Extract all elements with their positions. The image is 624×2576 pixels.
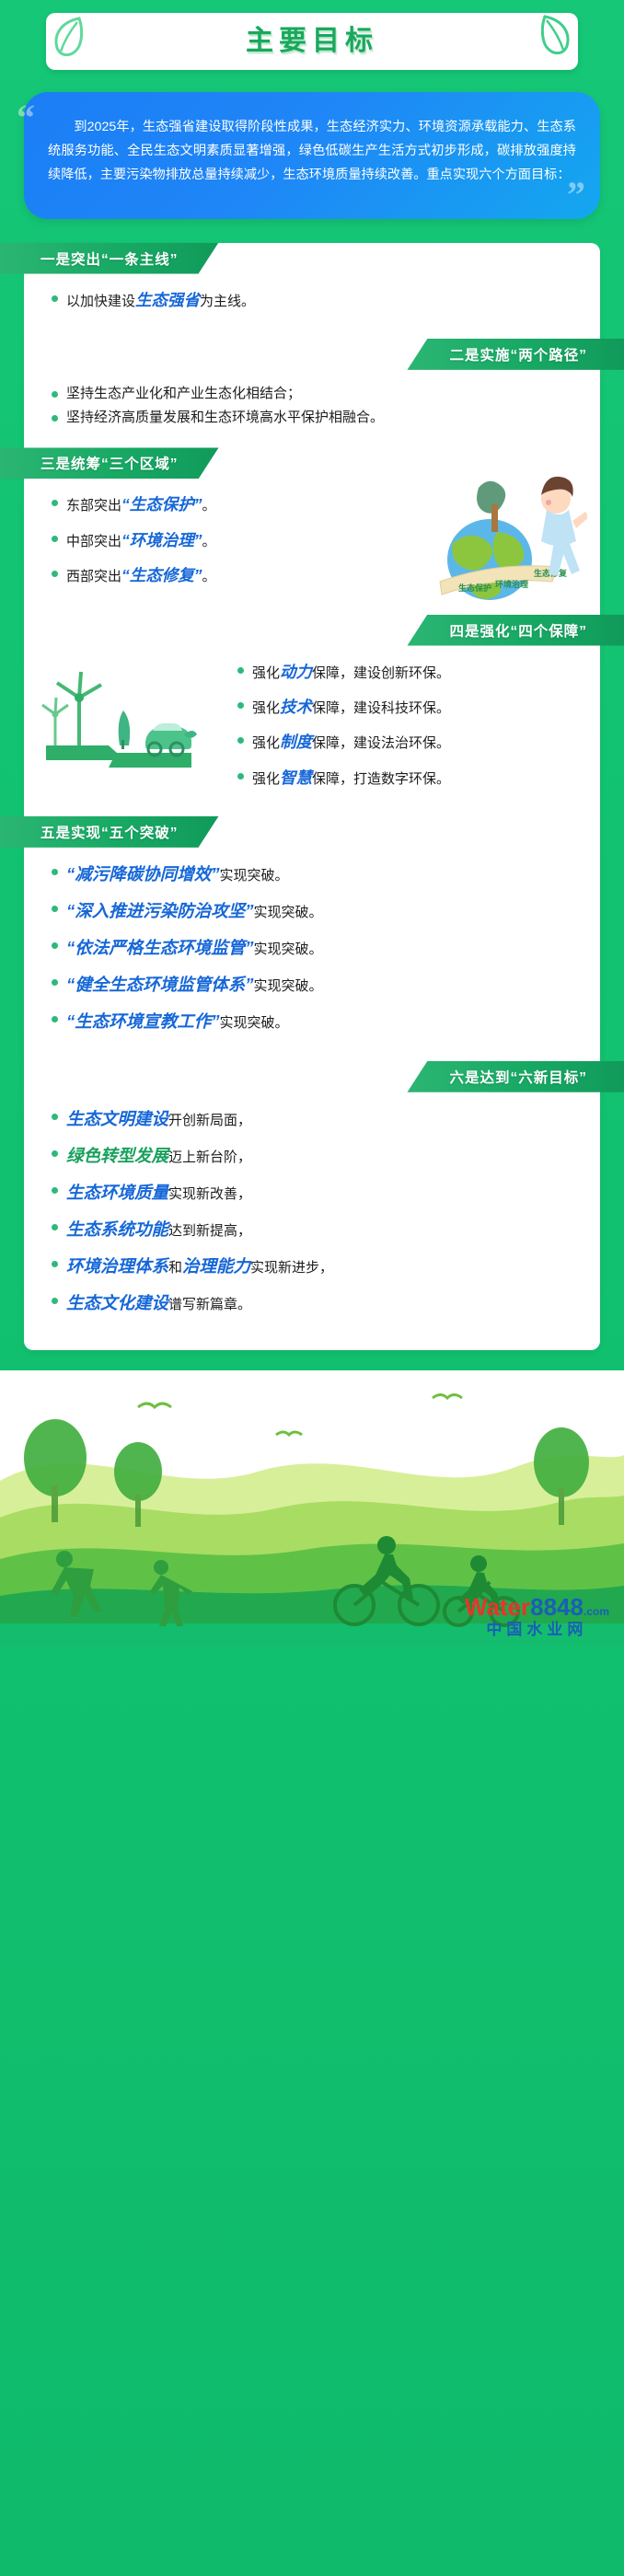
bullet-dot-icon <box>52 1150 58 1157</box>
section-4-heading: 四是强化“四个保障” <box>449 620 587 641</box>
text-fragment: 实现突破。 <box>220 1015 289 1031</box>
list-item-text: “健全生态环境监管体系”实现突破。 <box>66 971 572 999</box>
text-fragment: 强化 <box>252 665 280 681</box>
section-5-ribbon: 五是实现“五个突破” <box>24 816 600 848</box>
list-item: 强化制度保障，建设法治环保。 <box>237 729 580 755</box>
text-fragment: 。 <box>202 498 216 514</box>
section-4-ribbon: 四是强化“四个保障” <box>24 615 600 646</box>
list-item: 绿色转型发展迈上新台阶， <box>52 1142 572 1170</box>
highlight-fragment: “减污降碳协同增效” <box>66 864 220 884</box>
section-3-bullet-list: 东部突出“生态保护”。中部突出“环境治理”。西部突出“生态修复”。 <box>24 479 600 605</box>
list-item: 生态文明建设开创新局面， <box>52 1105 572 1133</box>
text-fragment: 保障，建设法治环保。 <box>312 735 450 751</box>
text-fragment: 实现突破。 <box>254 941 323 957</box>
section-5: 五是实现“五个突破”“减污降碳协同增效”实现突破。“深入推进污染防治攻坚”实现突… <box>24 816 600 1052</box>
highlight-fragment: 生态强省 <box>135 291 200 309</box>
section-1-heading: 一是突出“一条主线” <box>40 248 179 269</box>
bullet-dot-icon <box>237 667 244 674</box>
text-fragment: 保障，打造数字环保。 <box>312 771 450 787</box>
list-item: “健全生态环境监管体系”实现突破。 <box>52 971 572 999</box>
infographic-poster: 主要目标 “ 到2025年，生态强省建设取得阶段性成果，生态经济实力、环境资源承… <box>0 0 624 2576</box>
text-fragment: 保障，建设科技环保。 <box>312 700 450 716</box>
list-item-text: 坚持经济高质量发展和生态环境高水平保护相融合。 <box>66 407 572 429</box>
list-item-text: 绿色转型发展迈上新台阶， <box>66 1142 572 1170</box>
section-3-ribbon-bar: 三是统筹“三个区域” <box>0 447 219 479</box>
section-6-ribbon: 六是达到“六新目标” <box>24 1061 600 1092</box>
list-item-text: 中部突出“环境治理”。 <box>66 527 407 553</box>
bullet-dot-icon <box>237 702 244 709</box>
text-fragment: 保障，建设创新环保。 <box>312 665 450 681</box>
text-fragment: 实现突破。 <box>254 905 323 920</box>
section-6-heading: 六是达到“六新目标” <box>449 1067 587 1087</box>
list-item: “减污降碳协同增效”实现突破。 <box>52 861 572 888</box>
list-item-text: 强化制度保障，建设法治环保。 <box>252 729 580 755</box>
highlight-fragment: 动力 <box>280 663 312 681</box>
highlight-fragment: “生态保护” <box>121 495 202 514</box>
text-fragment: 迈上新台阶， <box>168 1149 251 1165</box>
footer-scenery: Water8848.com 中国水业网 <box>0 1370 624 1646</box>
text-fragment: 实现新进步， <box>250 1260 333 1276</box>
text-fragment: 西部突出 <box>66 569 121 584</box>
watermark-w: W <box>465 1593 487 1621</box>
list-item-text: 强化智慧保障，打造数字环保。 <box>252 765 580 791</box>
text-fragment: 谱写新篇章。 <box>168 1297 251 1312</box>
text-fragment: 达到新提高， <box>168 1223 251 1239</box>
list-item: 强化动力保障，建设创新环保。 <box>237 659 580 685</box>
highlight-fragment: 生态文化建设 <box>66 1293 168 1312</box>
bullet-dot-icon <box>52 869 58 875</box>
highlight-fragment: 制度 <box>280 733 312 751</box>
text-fragment: 以加快建设 <box>66 294 135 309</box>
text-fragment: 坚持经济高质量发展和生态环境高水平保护相融合。 <box>66 410 384 425</box>
highlight-fragment: “深入推进污染防治攻坚” <box>66 901 254 920</box>
list-item: 环境治理体系和治理能力实现新进步， <box>52 1253 572 1280</box>
quote-close-icon: ” <box>567 177 585 214</box>
section-1-ribbon: 一是突出“一条主线” <box>24 243 600 274</box>
highlight-fragment: “生态环境宣教工作” <box>66 1011 220 1031</box>
list-item-text: 生态系统功能达到新提高， <box>66 1216 572 1243</box>
highlight-fragment: 生态环境质量 <box>66 1183 168 1202</box>
list-item: “深入推进污染防治攻坚”实现突破。 <box>52 897 572 925</box>
bullet-dot-icon <box>52 979 58 986</box>
highlight-fragment: 治理能力 <box>182 1256 250 1276</box>
section-6: 六是达到“六新目标”生态文明建设开创新局面，绿色转型发展迈上新台阶，生态环境质量… <box>24 1061 600 1334</box>
quote-open-icon: “ <box>17 99 35 136</box>
list-item: 中部突出“环境治理”。 <box>52 527 407 553</box>
list-item: 以加快建设生态强省为主线。 <box>52 287 572 313</box>
section-6-ribbon-bar: 六是达到“六新目标” <box>407 1061 624 1092</box>
section-3-ribbon: 三是统筹“三个区域” <box>24 447 600 479</box>
bullet-dot-icon <box>52 391 58 398</box>
highlight-fragment: “健全生态环境监管体系” <box>66 975 254 994</box>
list-item: 强化技术保障，建设科技环保。 <box>237 694 580 720</box>
bullet-dot-icon <box>52 295 58 302</box>
bullet-dot-icon <box>52 571 58 577</box>
text-fragment: 强化 <box>252 700 280 716</box>
bullet-dot-icon <box>52 500 58 506</box>
section-5-heading: 五是实现“五个突破” <box>40 822 179 842</box>
intro-text: 到2025年，生态强省建设取得阶段性成果，生态经济实力、环境资源承载能力、生态系… <box>48 116 576 188</box>
section-1-bullet-list: 以加快建设生态强省为主线。 <box>24 274 600 329</box>
list-item-text: 西部突出“生态修复”。 <box>66 562 407 588</box>
list-item: 生态环境质量实现新改善， <box>52 1179 572 1207</box>
highlight-fragment: 智慧 <box>280 768 312 787</box>
highlight-fragment: 环境治理体系 <box>66 1256 168 1276</box>
header-banner: 主要目标 <box>46 13 578 70</box>
section-5-ribbon-bar: 五是实现“五个突破” <box>0 816 219 848</box>
list-item-text: 生态文化建设谱写新篇章。 <box>66 1289 572 1317</box>
watermark-ater: ater <box>486 1593 530 1621</box>
text-fragment: 和 <box>168 1260 182 1276</box>
bullet-dot-icon <box>52 415 58 422</box>
list-item: “依法严格生态环境监管”实现突破。 <box>52 934 572 962</box>
bullet-dot-icon <box>52 1187 58 1194</box>
text-fragment: 。 <box>202 569 216 584</box>
text-fragment: 为主线。 <box>200 294 255 309</box>
list-item-text: 环境治理体系和治理能力实现新进步， <box>66 1253 572 1280</box>
section-3: 三是统筹“三个区域” 生态保护 环境治理 生态修复 东部突出“生态保护”。中部突… <box>24 447 600 605</box>
list-item-text: “深入推进污染防治攻坚”实现突破。 <box>66 897 572 925</box>
list-item-text: 生态环境质量实现新改善， <box>66 1179 572 1207</box>
watermark-com: .com <box>584 1605 609 1618</box>
list-item-text: “减污降碳协同增效”实现突破。 <box>66 861 572 888</box>
section-2-ribbon: 二是实施“两个路径” <box>24 339 600 370</box>
text-fragment: 中部突出 <box>66 534 121 549</box>
text-fragment: 实现突破。 <box>254 978 323 994</box>
list-item: 西部突出“生态修复”。 <box>52 562 407 588</box>
highlight-fragment: 生态系统功能 <box>66 1219 168 1239</box>
highlight-fragment: 绿色转型发展 <box>66 1146 168 1165</box>
watermark-brand: Water8848.com <box>465 1594 609 1621</box>
text-fragment: 坚持生态产业化和产业生态化相结合； <box>66 386 301 401</box>
page-title: 主要目标 <box>46 13 578 70</box>
bullet-dot-icon <box>52 942 58 949</box>
bullet-dot-icon <box>52 1298 58 1304</box>
text-fragment: 实现突破。 <box>220 868 289 884</box>
list-item: 东部突出“生态保护”。 <box>52 491 407 517</box>
list-item-text: 东部突出“生态保护”。 <box>66 491 407 517</box>
text-fragment: 实现新改善， <box>168 1186 251 1202</box>
text-fragment: 东部突出 <box>66 498 121 514</box>
list-item: 坚持生态产业化和产业生态化相结合； <box>52 383 572 405</box>
bullet-dot-icon <box>237 773 244 780</box>
list-item-text: 强化技术保障，建设科技环保。 <box>252 694 580 720</box>
bullet-dot-icon <box>52 1016 58 1022</box>
section-2-bullet-list: 坚持生态产业化和产业生态化相结合；坚持经济高质量发展和生态环境高水平保护相融合。 <box>24 370 600 439</box>
content-panel: 一是突出“一条主线”以加快建设生态强省为主线。二是实施“两个路径”坚持生态产业化… <box>24 243 600 1350</box>
bullet-dot-icon <box>52 1224 58 1230</box>
list-item: 坚持经济高质量发展和生态环境高水平保护相融合。 <box>52 407 572 429</box>
list-item-text: 以加快建设生态强省为主线。 <box>66 287 572 313</box>
text-fragment: 强化 <box>252 735 280 751</box>
section-1-ribbon-bar: 一是突出“一条主线” <box>0 243 219 274</box>
section-4: 四是强化“四个保障” 强化动力保障，建设创新环保。强化技术保障，建设科技环保。强… <box>24 615 600 807</box>
bullet-dot-icon <box>52 1261 58 1267</box>
highlight-fragment: “依法严格生态环境监管” <box>66 938 254 957</box>
list-item-text: 强化动力保障，建设创新环保。 <box>252 659 580 685</box>
highlight-fragment: 生态文明建设 <box>66 1109 168 1128</box>
section-4-ribbon-bar: 四是强化“四个保障” <box>407 615 624 646</box>
section-2-ribbon-bar: 二是实施“两个路径” <box>407 339 624 370</box>
section-4-bullet-list: 强化动力保障，建设创新环保。强化技术保障，建设科技环保。强化制度保障，建设法治环… <box>24 646 600 807</box>
bullet-dot-icon <box>52 536 58 542</box>
section-3-heading: 三是统筹“三个区域” <box>40 453 179 473</box>
watermark-number: 8848 <box>530 1593 584 1621</box>
text-fragment: 开创新局面， <box>168 1113 251 1128</box>
list-item: 强化智慧保障，打造数字环保。 <box>237 765 580 791</box>
bullet-dot-icon <box>52 906 58 912</box>
watermark-cn: 中国水业网 <box>465 1622 609 1639</box>
list-item: 生态系统功能达到新提高， <box>52 1216 572 1243</box>
section-2-heading: 二是实施“两个路径” <box>449 344 587 364</box>
text-fragment: 。 <box>202 534 216 549</box>
bullet-dot-icon <box>52 1114 58 1120</box>
text-fragment: 强化 <box>252 771 280 787</box>
list-item-text: 生态文明建设开创新局面， <box>66 1105 572 1133</box>
highlight-fragment: “生态修复” <box>121 566 202 584</box>
watermark: Water8848.com 中国水业网 <box>465 1594 609 1638</box>
list-item: 生态文化建设谱写新篇章。 <box>52 1289 572 1317</box>
highlight-fragment: 技术 <box>280 698 312 716</box>
highlight-fragment: “环境治理” <box>121 531 202 549</box>
list-item: “生态环境宣教工作”实现突破。 <box>52 1008 572 1035</box>
list-item-text: “依法严格生态环境监管”实现突破。 <box>66 934 572 962</box>
bullet-dot-icon <box>237 737 244 744</box>
list-item-text: “生态环境宣教工作”实现突破。 <box>66 1008 572 1035</box>
intro-card: “ 到2025年，生态强省建设取得阶段性成果，生态经济实力、环境资源承载能力、生… <box>24 92 600 219</box>
section-5-bullet-list: “减污降碳协同增效”实现突破。“深入推进污染防治攻坚”实现突破。“依法严格生态环… <box>24 848 600 1052</box>
list-item-text: 坚持生态产业化和产业生态化相结合； <box>66 383 572 405</box>
section-1: 一是突出“一条主线”以加快建设生态强省为主线。 <box>24 243 600 329</box>
section-6-bullet-list: 生态文明建设开创新局面，绿色转型发展迈上新台阶，生态环境质量实现新改善，生态系统… <box>24 1092 600 1334</box>
section-2: 二是实施“两个路径”坚持生态产业化和产业生态化相结合；坚持经济高质量发展和生态环… <box>24 339 600 439</box>
